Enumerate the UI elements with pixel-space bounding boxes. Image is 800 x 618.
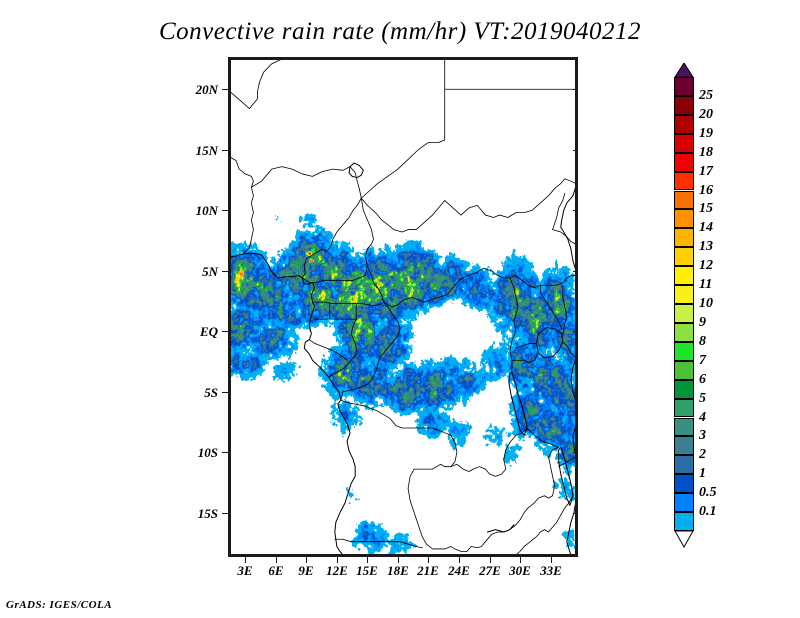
colorbar-tick-label: 5 [699,391,706,407]
colorbar-segment [674,115,694,134]
page-title: Convective rain rate (mm/hr) VT:20190402… [0,18,800,46]
colorbar-tick-label: 12 [699,258,713,274]
colorbar-segment [674,455,694,474]
latitude-tick [222,271,228,272]
latitude-label: 5N [178,264,218,280]
latitude-tick-right [573,513,578,514]
latitude-tick [222,331,228,332]
latitude-label: 10N [178,203,218,219]
latitude-tick-right [573,89,578,90]
latitude-tick [222,452,228,453]
colorbar-segment [674,266,694,285]
colorbar-segment [674,342,694,361]
colorbar-tick-label: 15 [699,201,713,217]
colorbar-tick-label: 10 [699,296,713,312]
latitude-tick-right [573,210,578,211]
colorbar-tick-label: 13 [699,239,713,255]
colorbar-tick-label: 3 [699,428,706,444]
colorbar-segment [674,436,694,455]
colorbar-tick-label: 14 [699,220,713,236]
colorbar [674,77,694,531]
latitude-tick [222,150,228,151]
grads-plot-window: Convective rain rate (mm/hr) VT:20190402… [0,0,800,618]
latitude-label: 10S [178,445,218,461]
colorbar-segment [674,304,694,323]
colorbar-tick-label: 16 [699,183,713,199]
latitude-tick [222,392,228,393]
colorbar-tick-label: 2 [699,447,706,463]
colorbar-segment [674,77,694,96]
latitude-label: 15N [178,143,218,159]
latitude-tick [222,513,228,514]
latitude-label: 20N [178,82,218,98]
colorbar-tick-label: 1 [699,466,706,482]
colorbar-segment [674,209,694,228]
colorbar-segment [674,172,694,191]
colorbar-segment [674,361,694,380]
colorbar-under-arrow [674,530,694,548]
latitude-tick-right [573,331,578,332]
colorbar-segment [674,512,694,531]
latitude-tick-right [573,452,578,453]
colorbar-tick-label: 4 [699,410,706,426]
colorbar-segment [674,323,694,342]
latitude-label: 5S [178,385,218,401]
colorbar-segment [674,399,694,418]
colorbar-tick-label: 8 [699,334,706,350]
colorbar-segment [674,134,694,153]
colorbar-tick-label: 20 [699,107,713,123]
colorbar-segment [674,285,694,304]
colorbar-segment [674,380,694,399]
colorbar-segment [674,474,694,493]
colorbar-segment [674,493,694,512]
colorbar-over-arrow [674,63,694,78]
latitude-tick [222,89,228,90]
colorbar-tick-label: 19 [699,126,713,142]
grads-attribution: GrADS: IGES/COLA [6,599,112,611]
colorbar-tick-label: 17 [699,164,713,180]
map-plot-area [228,57,578,557]
colorbar-segment [674,96,694,115]
latitude-label: 15S [178,506,218,522]
colorbar-segment [674,153,694,172]
colorbar-tick-label: 0.5 [699,485,717,501]
colorbar-segment [674,247,694,266]
colorbar-tick-label: 18 [699,145,713,161]
latitude-tick [222,210,228,211]
colorbar-tick-label: 6 [699,372,706,388]
latitude-tick-right [573,150,578,151]
colorbar-segment [674,191,694,210]
colorbar-tick-label: 11 [699,277,712,293]
colorbar-segment [674,228,694,247]
latitude-tick-right [573,392,578,393]
colorbar-tick-label: 25 [699,88,713,104]
colorbar-tick-label: 0.1 [699,504,717,520]
latitude-label: EQ [178,324,218,340]
colorbar-segment [674,418,694,437]
colorbar-tick-label: 9 [699,315,706,331]
colorbar-tick-label: 7 [699,353,706,369]
latitude-tick-right [573,271,578,272]
longitude-label: 33E [531,563,571,579]
coastline-and-borders-overlay [230,59,576,555]
